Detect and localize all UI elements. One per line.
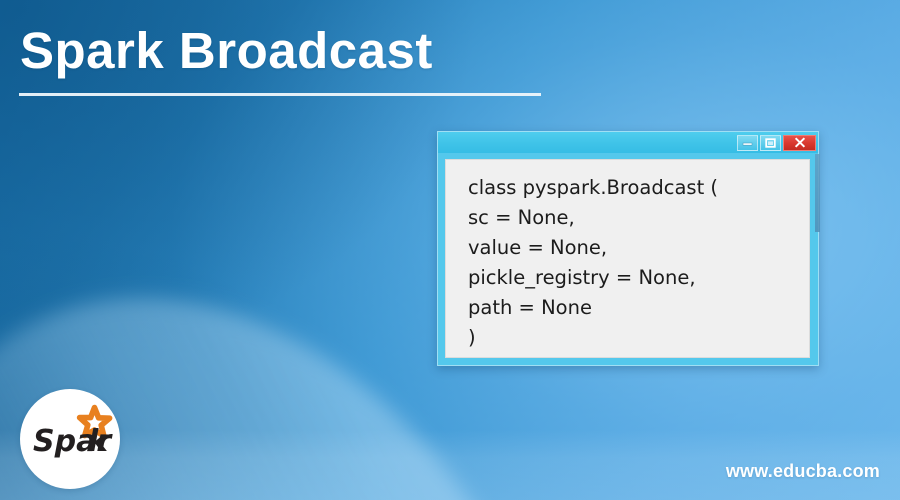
window-titlebar[interactable] — [438, 132, 818, 153]
minimize-icon — [742, 138, 753, 147]
code-block: class pyspark.Broadcast ( sc = None, val… — [446, 160, 809, 353]
window-maximize-button[interactable] — [760, 135, 781, 151]
maximize-icon — [765, 138, 776, 148]
window-minimize-button[interactable] — [737, 135, 758, 151]
window-scrollbar-thumb[interactable] — [815, 154, 820, 232]
slide-canvas: Spark Broadcast — [0, 0, 900, 500]
spark-logo-badge: Spar k — [20, 389, 120, 489]
footer-website-url[interactable]: www.educba.com — [726, 461, 880, 482]
close-icon — [794, 137, 806, 148]
window-close-button[interactable] — [783, 135, 816, 151]
title-underline-rule — [19, 93, 541, 96]
svg-text:k: k — [88, 424, 110, 459]
spark-logo-icon: Spar k — [20, 389, 120, 489]
page-title: Spark Broadcast — [20, 22, 433, 79]
window-content-area: class pyspark.Broadcast ( sc = None, val… — [445, 159, 810, 358]
code-window[interactable]: class pyspark.Broadcast ( sc = None, val… — [437, 131, 819, 366]
